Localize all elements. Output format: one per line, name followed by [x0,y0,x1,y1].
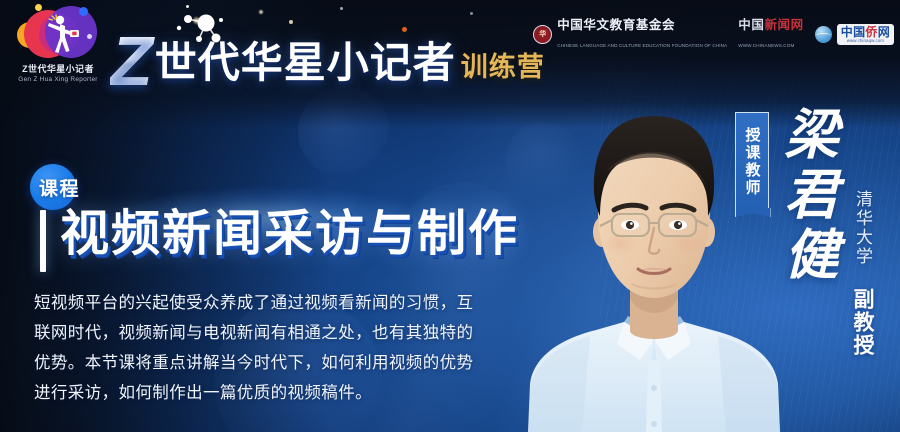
partner-url: WWW.CHINANEWS.COM [738,43,794,48]
reporter-figure-icon [43,14,81,54]
course-badge-label: 课程 [39,174,80,201]
partner-logos: 华 中国华文教育基金会 CHINESE LANGUAGE AND CULTURE… [533,16,894,52]
instructor-label: 授课教师 [744,127,761,197]
title-sub-text: 训练营 [461,50,545,84]
instructor-name: 梁君健 [778,106,836,286]
partner-logo-cleff[interactable]: 华 中国华文教育基金会 CHINESE LANGUAGE AND CULTURE… [533,16,727,52]
course-promo-banner: Z世代华星小记者 Gen Z Hua Xing Reporter Z 世代华星小… [0,0,900,432]
banner-header: Z世代华星小记者 Gen Z Hua Xing Reporter Z 世代华星小… [0,0,900,104]
seal-icon: 华 [533,25,552,44]
course-description: 短视频平台的兴起使受众养成了通过视频看新闻的习惯，互联网时代，视频新闻与电视新闻… [34,288,484,408]
partner-name-en: CHINESE LANGUAGE AND CULTURE EDUCATION F… [557,43,727,48]
brand-logo: Z世代华星小记者 Gen Z Hua Xing Reporter [6,4,110,96]
molecule-dots-icon [166,14,226,54]
logo-dot-white [87,34,92,39]
brand-logo-mark [15,4,101,62]
partner-name-cn-suffix: 网 [878,25,890,39]
partner-logo-chinaqw[interactable]: 中国侨网 www.chinaqw.com [815,24,894,45]
partner-name-cn: 中国华文教育基金会 [557,18,675,32]
partner-name-cn-highlight: 侨 [865,25,877,39]
instructor-organization: 清华大学 [853,190,872,266]
brand-logo-cn: Z世代华星小记者 [6,64,110,75]
partner-url: www.chinaqw.com [847,38,884,44]
brand-logo-en: Gen Z Hua Xing Reporter [6,75,110,84]
partner-logo-chinanews[interactable]: 中国新闻网 WWW.CHINANEWS.COM [738,16,804,52]
title-letter-z: Z [110,30,155,92]
logo-dot-yellow [35,4,42,11]
partner-name-cn-prefix: 中国 [841,25,866,39]
course-title-accent-bar [40,210,46,272]
instructor-label-ribbon: 授课教师 [735,112,769,208]
partner-name-cn-highlight: 新闻网 [764,18,803,32]
course-title: 视频新闻采访与制作 [60,204,519,264]
partner-name-cn-prefix: 中国 [738,18,764,32]
instructor-rank: 副教授 [851,288,874,357]
globe-icon [815,26,832,43]
